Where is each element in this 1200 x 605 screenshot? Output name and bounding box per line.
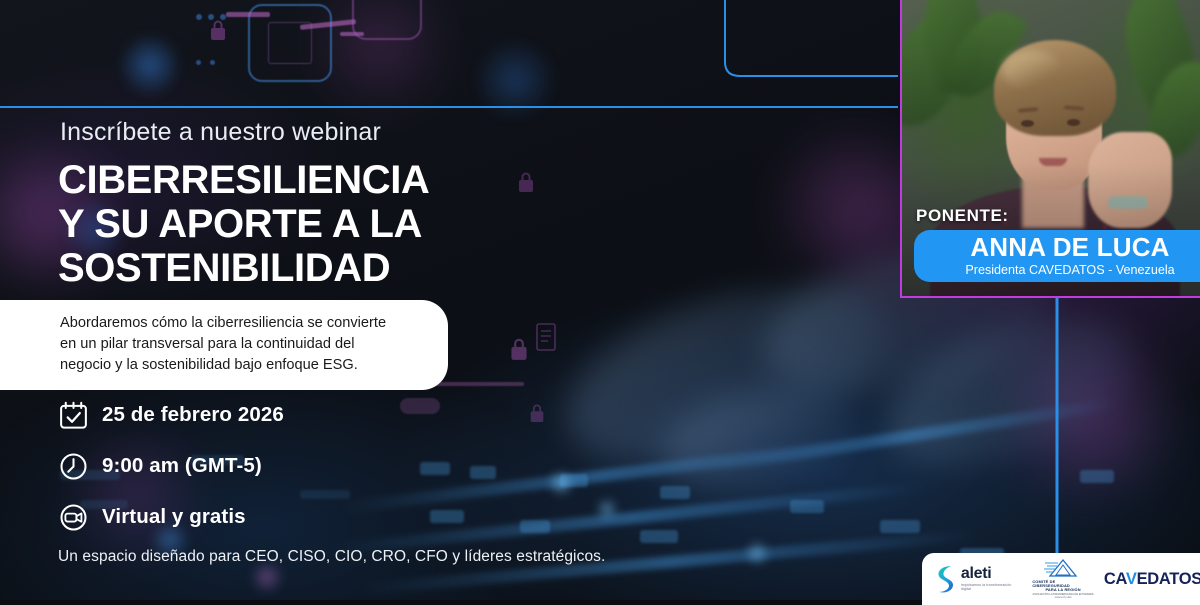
aleti-wordmark: aleti [961, 566, 1022, 582]
logo-cavedatos: CAVEDATOS [1104, 570, 1200, 589]
aleti-tagline: impulsamos la transformación digital [961, 584, 1022, 591]
cavedatos-prefix: CA [1104, 570, 1126, 588]
headline-line-1: CIBERRESILIENCIA [58, 158, 429, 202]
detail-row-format: Virtual y gratis [58, 494, 284, 540]
speaker-panel: PONENTE: ANNA DE LUCA Presidenta CAVEDAT… [900, 0, 1200, 298]
keyboard-key [1080, 470, 1114, 483]
video-camera-icon [58, 502, 88, 532]
wave-swoosh-icon [934, 563, 956, 595]
speaker-name-banner: ANNA DE LUCA Presidenta CAVEDATOS - Vene… [914, 230, 1200, 282]
event-details: 25 de febrero 2026 9:00 am (GMT-5) V [58, 392, 284, 545]
cavedatos-suffix: EDATOS [1137, 570, 1200, 588]
speaker-role: Presidenta CAVEDATOS - Venezuela [965, 263, 1174, 278]
cavedatos-accent: V [1126, 570, 1137, 588]
triangle-mountain-icon [1043, 558, 1083, 578]
detail-text-time: 9:00 am (GMT-5) [102, 454, 262, 478]
detail-text-date: 25 de febrero 2026 [102, 403, 284, 427]
logo-bar: aleti impulsamos la transformación digit… [922, 553, 1200, 605]
clock-icon [58, 451, 88, 481]
comite-line-4: powered by aleti [1055, 597, 1072, 599]
logo-aleti: aleti impulsamos la transformación digit… [934, 563, 1022, 595]
detail-row-date: 25 de febrero 2026 [58, 392, 284, 438]
logo-comite-ciberseguridad: COMITÉ DE CIBERSEGURIDAD PARA LA REGIÓN … [1032, 558, 1093, 600]
headline-line-3: SOSTENIBILIDAD [58, 246, 429, 290]
speaker-name: ANNA DE LUCA [970, 234, 1169, 260]
speaker-label: PONENTE: [916, 206, 1009, 226]
detail-row-time: 9:00 am (GMT-5) [58, 443, 284, 489]
kicker-text: Inscríbete a nuestro webinar [60, 118, 381, 147]
comite-line-2: PARA LA REGIÓN [1045, 588, 1080, 592]
description-text: Abordaremos cómo la ciberresiliencia se … [60, 313, 426, 376]
description-card: Abordaremos cómo la ciberresiliencia se … [0, 300, 448, 390]
page-title: CIBERRESILIENCIA Y SU APORTE A LA SOSTEN… [58, 158, 429, 290]
detail-text-format: Virtual y gratis [102, 505, 246, 529]
calendar-check-icon [58, 400, 88, 430]
content-column: Inscríbete a nuestro webinar CIBERRESILI… [0, 0, 900, 600]
audience-text: Un espacio diseñado para CEO, CISO, CIO,… [58, 548, 605, 566]
headline-line-2: Y SU APORTE A LA [58, 202, 429, 246]
